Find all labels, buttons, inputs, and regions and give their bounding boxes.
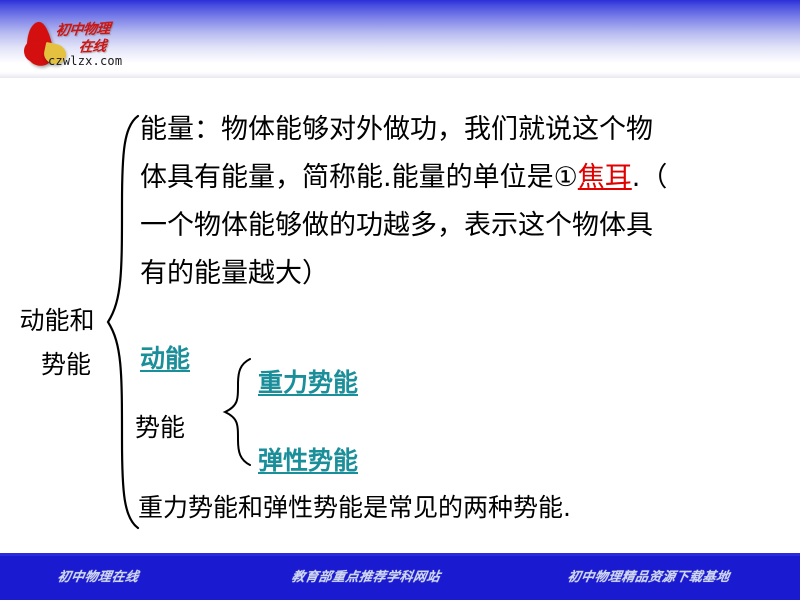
footer-item-endorsement: 教育部重点推荐学科网站 xyxy=(290,566,442,585)
footer-item-site-name: 初中物理在线 xyxy=(56,566,140,585)
paragraph-line-3: 一个物体能够做的功越多，表示这个物体具 xyxy=(140,202,790,250)
paragraph-line-1: 能量：物体能够对外做功，我们就说这个物 xyxy=(140,106,790,154)
root-label: 动能和 势能 xyxy=(2,299,112,387)
big-brace-icon xyxy=(104,112,142,532)
big-brace xyxy=(104,112,142,532)
slide-content: 动能和 势能 能量：物体能够对外做功，我们就说这个物 体具有能量，简称能.能量的… xyxy=(0,78,800,550)
node-gravitational-potential-energy-label: 重力势能 xyxy=(258,368,358,397)
node-elastic-potential-energy-label: 弹性势能 xyxy=(258,446,358,475)
node-potential-energy: 势能 xyxy=(135,413,185,443)
joule-highlight: 焦耳 xyxy=(578,162,632,193)
node-potential-energy-label: 势能 xyxy=(135,413,185,442)
paragraph-line-2-before: 体具有能量，简称能.能量的单位是① xyxy=(140,162,578,193)
node-kinetic-energy: 动能 xyxy=(140,344,190,374)
small-brace-icon xyxy=(222,356,254,468)
node-kinetic-energy-label: 动能 xyxy=(140,344,190,373)
paragraph-line-2-after: .（ xyxy=(632,162,668,193)
footer-bar: 初中物理在线 教育部重点推荐学科网站 初中物理精品资源下载基地 xyxy=(0,553,800,600)
node-gravitational-potential-energy: 重力势能 xyxy=(258,368,358,398)
paragraph-line-2: 体具有能量，简称能.能量的单位是①焦耳.（ xyxy=(140,154,790,202)
definition-paragraph: 能量：物体能够对外做功，我们就说这个物 体具有能量，简称能.能量的单位是①焦耳.… xyxy=(140,106,790,298)
root-label-line1: 动能和 xyxy=(2,299,112,343)
node-elastic-potential-energy: 弹性势能 xyxy=(258,446,358,476)
logo-domain-text: czwlzx.com xyxy=(48,54,122,68)
root-label-line2: 势能 xyxy=(2,343,112,387)
site-logo: 初中物理 在线 czwlzx.com xyxy=(22,16,152,72)
footer-top-edge xyxy=(0,553,800,556)
paragraph-line-4: 有的能量越大） xyxy=(140,250,790,298)
small-brace xyxy=(222,356,254,468)
footer-item-resources: 初中物理精品资源下载基地 xyxy=(566,566,731,585)
summary-line: 重力势能和弹性势能是常见的两种势能. xyxy=(138,491,571,525)
